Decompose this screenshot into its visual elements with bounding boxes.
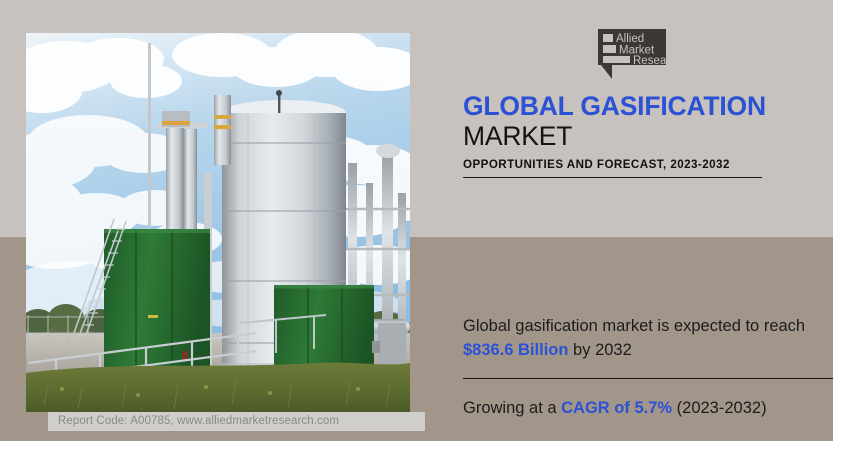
title-line-primary: GLOBAL GASIFICATION: [463, 92, 835, 121]
stats-divider: [463, 378, 833, 379]
svg-text:Allied: Allied: [616, 33, 644, 45]
cagr-value: CAGR of 5.7%: [561, 399, 672, 417]
cagr-prefix: Growing at a: [463, 399, 561, 417]
market-size-value: $836.6 Billion: [463, 341, 568, 359]
market-size-prefix: Global gasification market is expected t…: [463, 317, 805, 335]
page-subtitle: OPPORTUNITIES AND FORECAST, 2023-2032: [463, 158, 762, 178]
cagr-statement: Growing at a CAGR of 5.7% (2023-2032): [463, 396, 823, 420]
market-size-suffix: by 2032: [568, 341, 631, 359]
page-title: GLOBAL GASIFICATION MARKET: [463, 92, 835, 151]
gasification-plant-photo: [26, 33, 410, 412]
svg-text:Research: Research: [633, 55, 666, 67]
allied-market-research-logo-icon: Allied Market Research: [592, 29, 666, 81]
infographic-canvas: Report Code: A00785, www.alliedmarketres…: [0, 0, 847, 470]
market-size-statement: Global gasification market is expected t…: [463, 314, 815, 362]
photo-caption: Report Code: A00785, www.alliedmarketres…: [48, 412, 425, 431]
title-line-secondary: MARKET: [463, 121, 835, 151]
cagr-suffix: (2023-2032): [672, 399, 766, 417]
